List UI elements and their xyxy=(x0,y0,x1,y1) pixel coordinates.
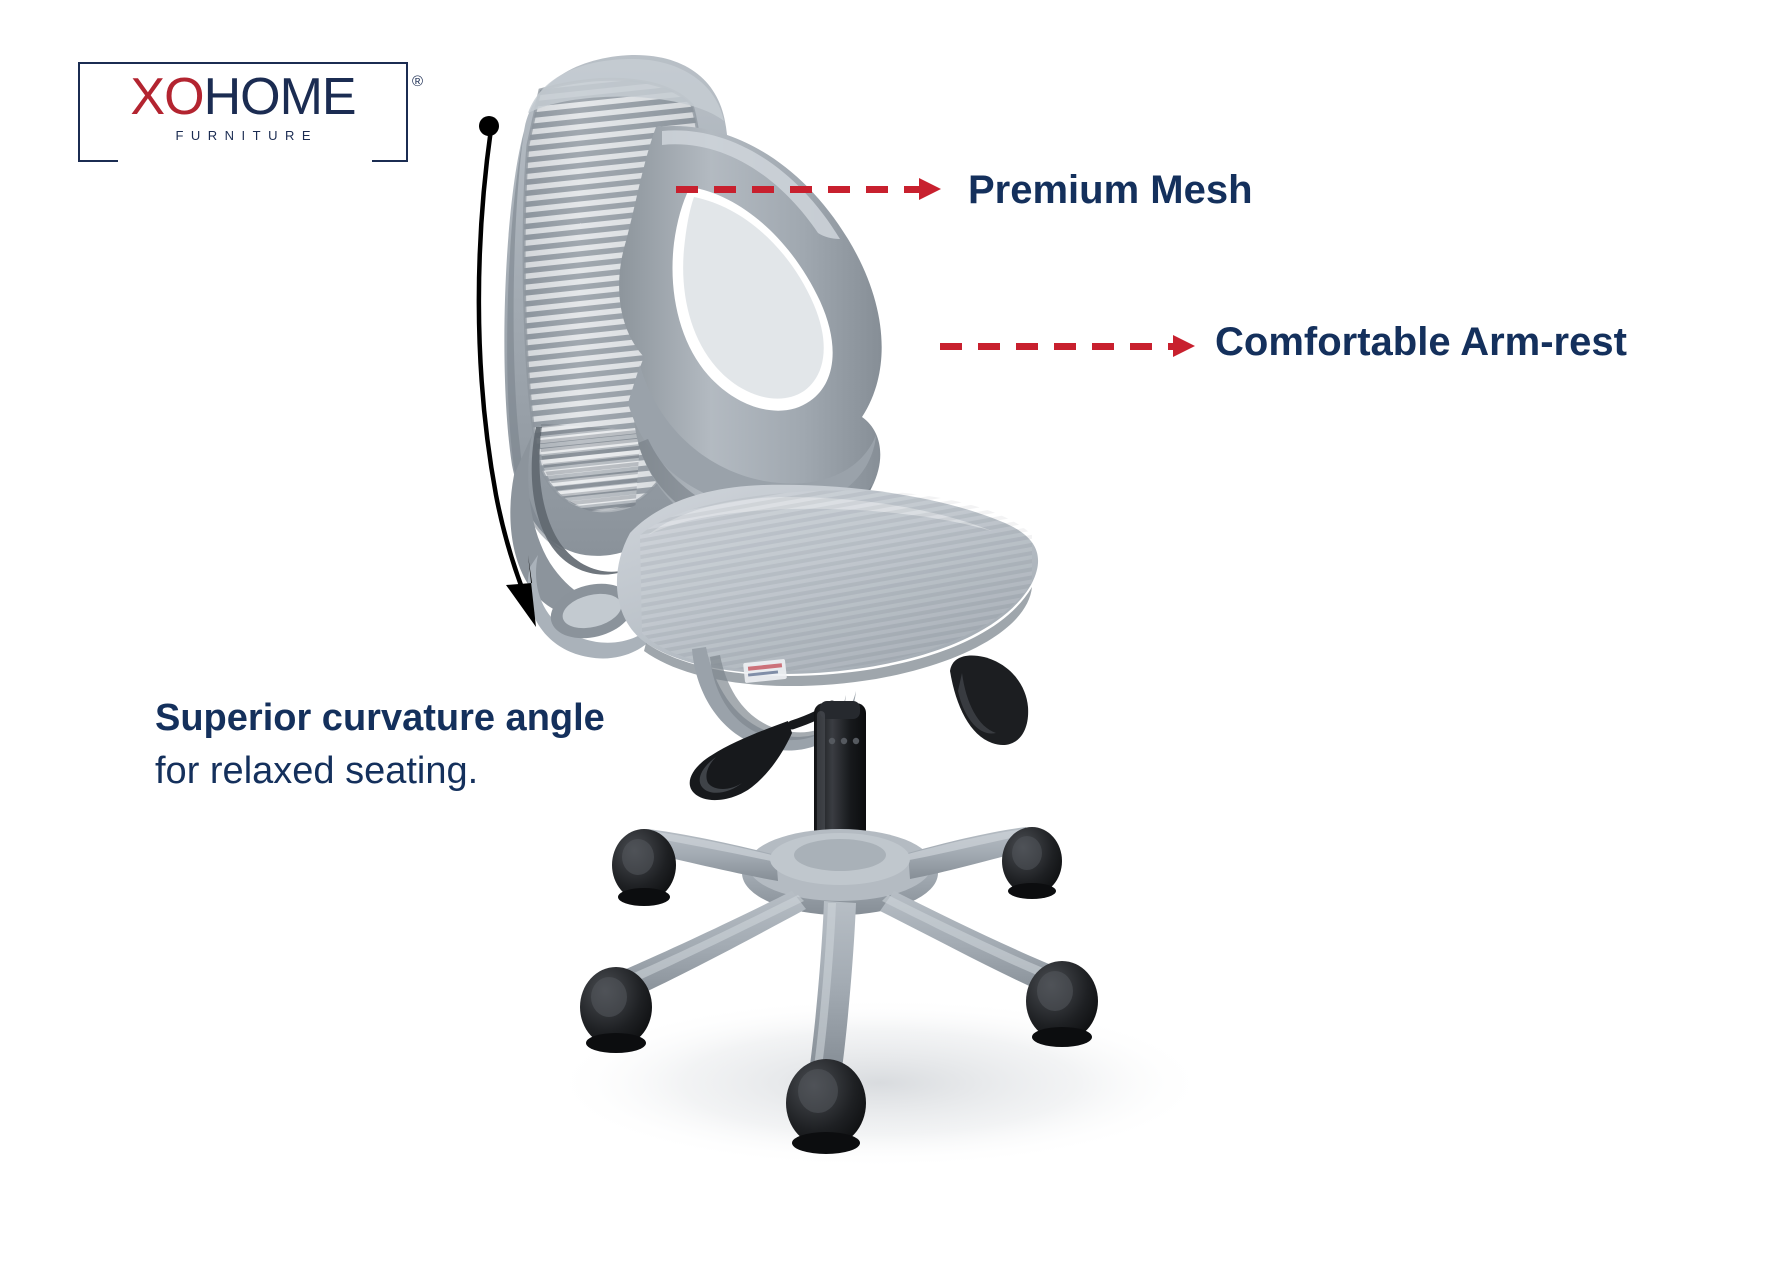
caster-front-right xyxy=(1026,961,1098,1047)
infographic-canvas: XOHOME FURNITURE ® Premium Mesh Comforta… xyxy=(0,0,1792,1279)
logo-frame-gap-right xyxy=(354,156,372,163)
logo-frame-gap-left xyxy=(118,156,136,163)
curved-arrow-icon xyxy=(470,115,590,675)
leader-arrowhead-icon xyxy=(1173,335,1195,357)
leader-line-premium-mesh xyxy=(676,186,941,193)
logo-tagline: FURNITURE xyxy=(78,128,408,143)
leader-dashes xyxy=(676,186,919,193)
caster-front-left xyxy=(580,967,652,1053)
callout-label-premium-mesh: Premium Mesh xyxy=(968,168,1253,212)
leader-line-arm-rest xyxy=(940,343,1195,350)
leader-arrowhead-icon xyxy=(919,178,941,200)
arrow-head xyxy=(506,555,536,627)
curvature-note-line1: Superior curvature angle xyxy=(155,692,715,744)
logo-wordmark: XOHOME xyxy=(78,66,408,128)
brand-logo[interactable]: XOHOME FURNITURE ® xyxy=(78,62,408,162)
caster-rear-hidden xyxy=(950,656,1028,746)
callout-label-comfortable-arm-rest: Comfortable Arm-rest xyxy=(1215,320,1627,364)
office-chair-photo xyxy=(480,35,1240,1215)
caster-front-center xyxy=(786,1059,866,1154)
logo-xo-text: XO xyxy=(130,68,203,126)
caster-back-right xyxy=(1002,827,1062,899)
logo-home-text: HOME xyxy=(204,68,356,126)
curvature-note-line2: for relaxed seating. xyxy=(155,744,715,798)
caster-back-left xyxy=(612,829,676,906)
curvature-note: Superior curvature angle for relaxed sea… xyxy=(155,692,715,798)
leader-dashes xyxy=(940,343,1173,350)
registered-trademark-icon: ® xyxy=(412,74,423,89)
logo-frame-gap-middle xyxy=(136,156,354,163)
